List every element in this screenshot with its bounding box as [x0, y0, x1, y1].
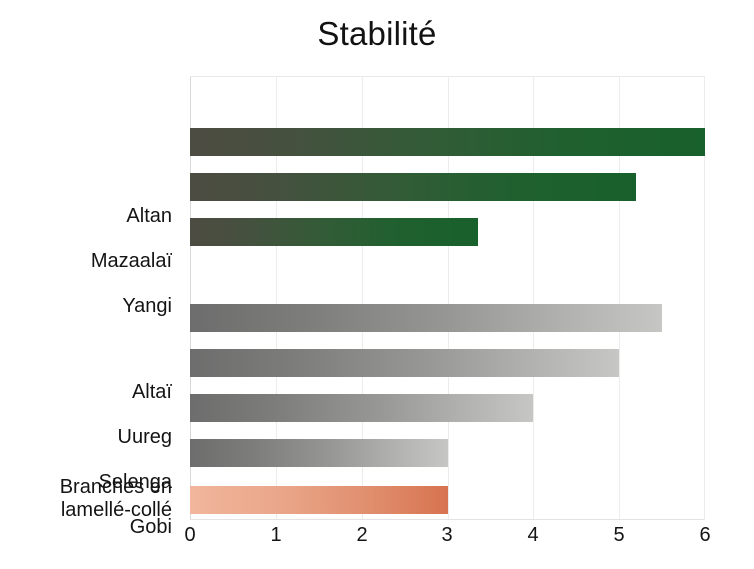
x-tick-4: 4	[513, 524, 553, 547]
x-tick-0: 0	[170, 524, 210, 547]
y-axis-labels: Altan Mazaalaï Yangi Altaï Uureg Selenga…	[0, 76, 180, 520]
chart-title: Stabilité	[0, 16, 754, 52]
bar-yangi[interactable]	[190, 218, 478, 246]
y-label-altan: Altan	[126, 205, 172, 228]
bar-altai[interactable]	[190, 304, 662, 332]
y-label-mazaalai: Mazaalaï	[91, 250, 172, 273]
bar-altan[interactable]	[190, 128, 705, 156]
y-label-uureg: Uureg	[118, 426, 172, 449]
bar-gobi[interactable]	[190, 439, 448, 467]
y-label-yangi: Yangi	[122, 295, 172, 318]
bar-uureg[interactable]	[190, 349, 619, 377]
bar-selenga[interactable]	[190, 394, 533, 422]
y-label-branches-lamelle-colle: Branches en lamellé-collé	[60, 476, 172, 522]
x-tick-6: 6	[685, 524, 725, 547]
x-tick-2: 2	[342, 524, 382, 547]
x-axis-labels: 0 1 2 3 4 5 6	[0, 524, 754, 564]
y-label-altai: Altaï	[132, 381, 172, 404]
bar-chart: Stabilité Altan Mazaalaï Yangi Altaï Uur…	[0, 0, 754, 569]
x-tick-3: 3	[427, 524, 467, 547]
bar-mazaalai[interactable]	[190, 173, 636, 201]
plot-area	[190, 76, 705, 520]
x-tick-5: 5	[599, 524, 639, 547]
x-tick-1: 1	[256, 524, 296, 547]
bar-branches-lamelle-colle[interactable]	[190, 486, 448, 514]
